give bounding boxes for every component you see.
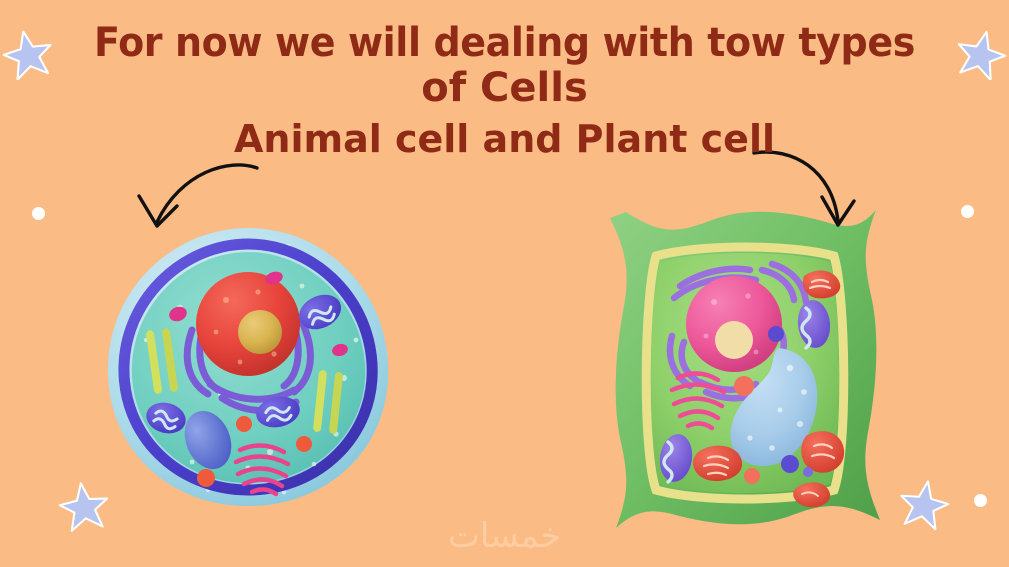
title-line-1: For now we will dealing with tow types [25,22,984,64]
plant-chloroplast-bottom-left [693,446,742,481]
plant-vesicle-purple-3 [803,467,813,477]
slide-canvas: For now we will dealing with tow types o… [0,0,1009,567]
plant-vesicle-purple-1 [768,326,784,342]
title-line-2: of Cells [0,66,1009,111]
title-line-3: Animal cell and Plant cell [0,119,1009,161]
animal-lysosome-3 [197,469,215,487]
dot-right-icon [961,205,974,218]
plant-chloroplast-bottom-right [801,431,844,473]
plant-vesicle-red-1 [734,376,754,396]
animal-lysosome-1 [236,416,252,432]
title-block: For now we will dealing with tow types o… [0,22,1009,161]
dot-left-icon [32,207,45,220]
plant-vesicle-red-2 [744,468,760,484]
plant-vesicle-purple-2 [781,455,799,473]
plant-nucleolus [715,321,753,359]
arrow-to-animal-cell-icon [125,150,265,265]
dot-bottom-right-icon [974,494,987,507]
animal-lysosome-2 [296,436,312,452]
animal-nucleolus [238,310,282,354]
